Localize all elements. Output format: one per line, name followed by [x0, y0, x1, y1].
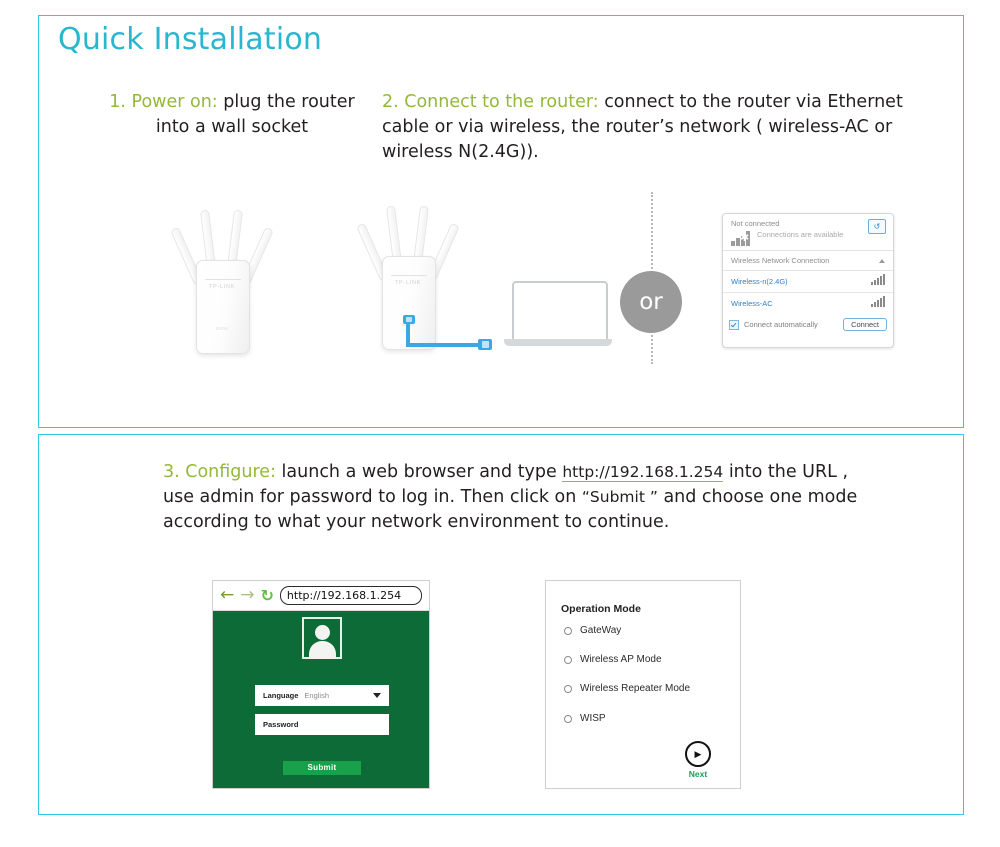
page-title: Quick Installation [58, 22, 322, 57]
language-value: English [304, 691, 329, 700]
avatar-body [309, 641, 336, 659]
step-3-label: 3. Configure: [163, 462, 276, 482]
installation-guide-page: Quick Installation 1. Power on: plug the… [0, 0, 1000, 847]
wifi-section-header: Wireless Network Connection [723, 251, 893, 270]
cable-plug-laptop [478, 339, 492, 350]
operation-mode-title: Operation Mode [561, 603, 641, 615]
step-2-text: 2. Connect to the router: connect to the… [382, 90, 922, 165]
connect-button[interactable]: Connect [843, 318, 887, 331]
wifi-section-header-label: Wireless Network Connection [731, 256, 829, 265]
wifi-connect-row: Connect automatically Connect [723, 314, 893, 335]
chevron-down-icon[interactable] [373, 693, 381, 698]
router-illustration-2: TP-LINK N300 [382, 194, 448, 354]
step-1-text: 1. Power on: plug the router into a wall… [92, 90, 372, 140]
radio-icon[interactable] [564, 715, 572, 723]
radio-icon[interactable] [564, 685, 572, 693]
router-model-label: N300 [196, 326, 248, 331]
wifi-status-row: Not connected ↺ [723, 214, 893, 228]
cable-plug-router [403, 315, 415, 324]
mode-option-wisp[interactable]: WISP [564, 713, 606, 724]
step-1-label: 1. Power on: [109, 92, 217, 112]
forward-arrow-icon[interactable]: → [240, 587, 254, 604]
radio-icon[interactable] [564, 656, 572, 664]
language-label: Language [263, 691, 298, 700]
router-body [196, 260, 250, 354]
router-url-link[interactable]: http://192.168.1.254 [562, 463, 723, 482]
step-2-label: 2. Connect to the router: [382, 92, 599, 112]
laptop-illustration [504, 281, 612, 347]
router-login-panel: ← → ↻ http://192.168.1.254 Language Engl… [212, 580, 430, 789]
router-brand-label: TP-LINK [196, 284, 248, 290]
router-brand-label: TP-LINK [382, 280, 434, 286]
busy-star-icon: ✱ [740, 233, 749, 244]
refresh-icon[interactable]: ↻ [261, 587, 274, 604]
next-button[interactable]: Next [677, 741, 719, 779]
wifi-network-item[interactable]: Wireless-n(2.4G) [723, 271, 893, 292]
browser-toolbar: ← → ↻ http://192.168.1.254 [213, 581, 429, 611]
step-3-quoted-submit: “Submit ” [582, 488, 658, 506]
or-badge: or [620, 271, 682, 333]
password-placeholder: Password [263, 720, 298, 729]
wifi-status-label: Not connected [731, 219, 779, 228]
mode-option-gateway[interactable]: GateWay [564, 625, 621, 636]
cable-segment-horizontal [406, 343, 480, 347]
submit-button[interactable]: Submit [283, 761, 361, 775]
connect-automatically-label: Connect automatically [744, 320, 818, 329]
avatar-head [315, 625, 330, 640]
back-arrow-icon[interactable]: ← [220, 587, 234, 604]
radio-icon[interactable] [564, 627, 572, 635]
wifi-network-name: Wireless-n(2.4G) [731, 277, 788, 286]
mode-option-wireless-repeater[interactable]: Wireless Repeater Mode [564, 683, 690, 694]
signal-strength-icon [871, 275, 885, 285]
wifi-available-row: ✱ Connections are available [723, 228, 893, 250]
mode-option-label: GateWay [580, 625, 621, 636]
laptop-base [504, 339, 612, 346]
mode-option-label: Wireless AP Mode [580, 654, 662, 665]
mode-option-label: Wireless Repeater Mode [580, 683, 690, 694]
password-input[interactable]: Password [255, 714, 389, 735]
operation-mode-panel: Operation Mode GateWay Wireless AP Mode … [545, 580, 741, 789]
url-input[interactable]: http://192.168.1.254 [280, 586, 422, 605]
wifi-network-item[interactable]: Wireless-AC [723, 293, 893, 314]
language-select[interactable]: Language English [255, 685, 389, 706]
signal-strength-icon [871, 297, 885, 307]
chevron-up-icon[interactable] [879, 259, 885, 263]
mode-option-label: WISP [580, 713, 606, 724]
step-3-text: 3. Configure: launch a web browser and t… [163, 460, 883, 535]
wifi-available-label: Connections are available [757, 230, 843, 239]
arrow-right-circle-icon [685, 741, 711, 767]
next-label: Next [677, 769, 719, 779]
step-3-body-before: launch a web browser and type [276, 462, 562, 482]
mode-option-wireless-ap[interactable]: Wireless AP Mode [564, 654, 662, 665]
laptop-screen [512, 281, 608, 343]
router-illustration-1: TP-LINK N300 [196, 198, 262, 358]
wifi-network-name: Wireless-AC [731, 299, 773, 308]
user-avatar-icon [302, 617, 342, 659]
connect-automatically-checkbox[interactable] [729, 320, 739, 330]
wifi-network-list-panel: Not connected ↺ ✱ Connections are availa… [722, 213, 894, 348]
